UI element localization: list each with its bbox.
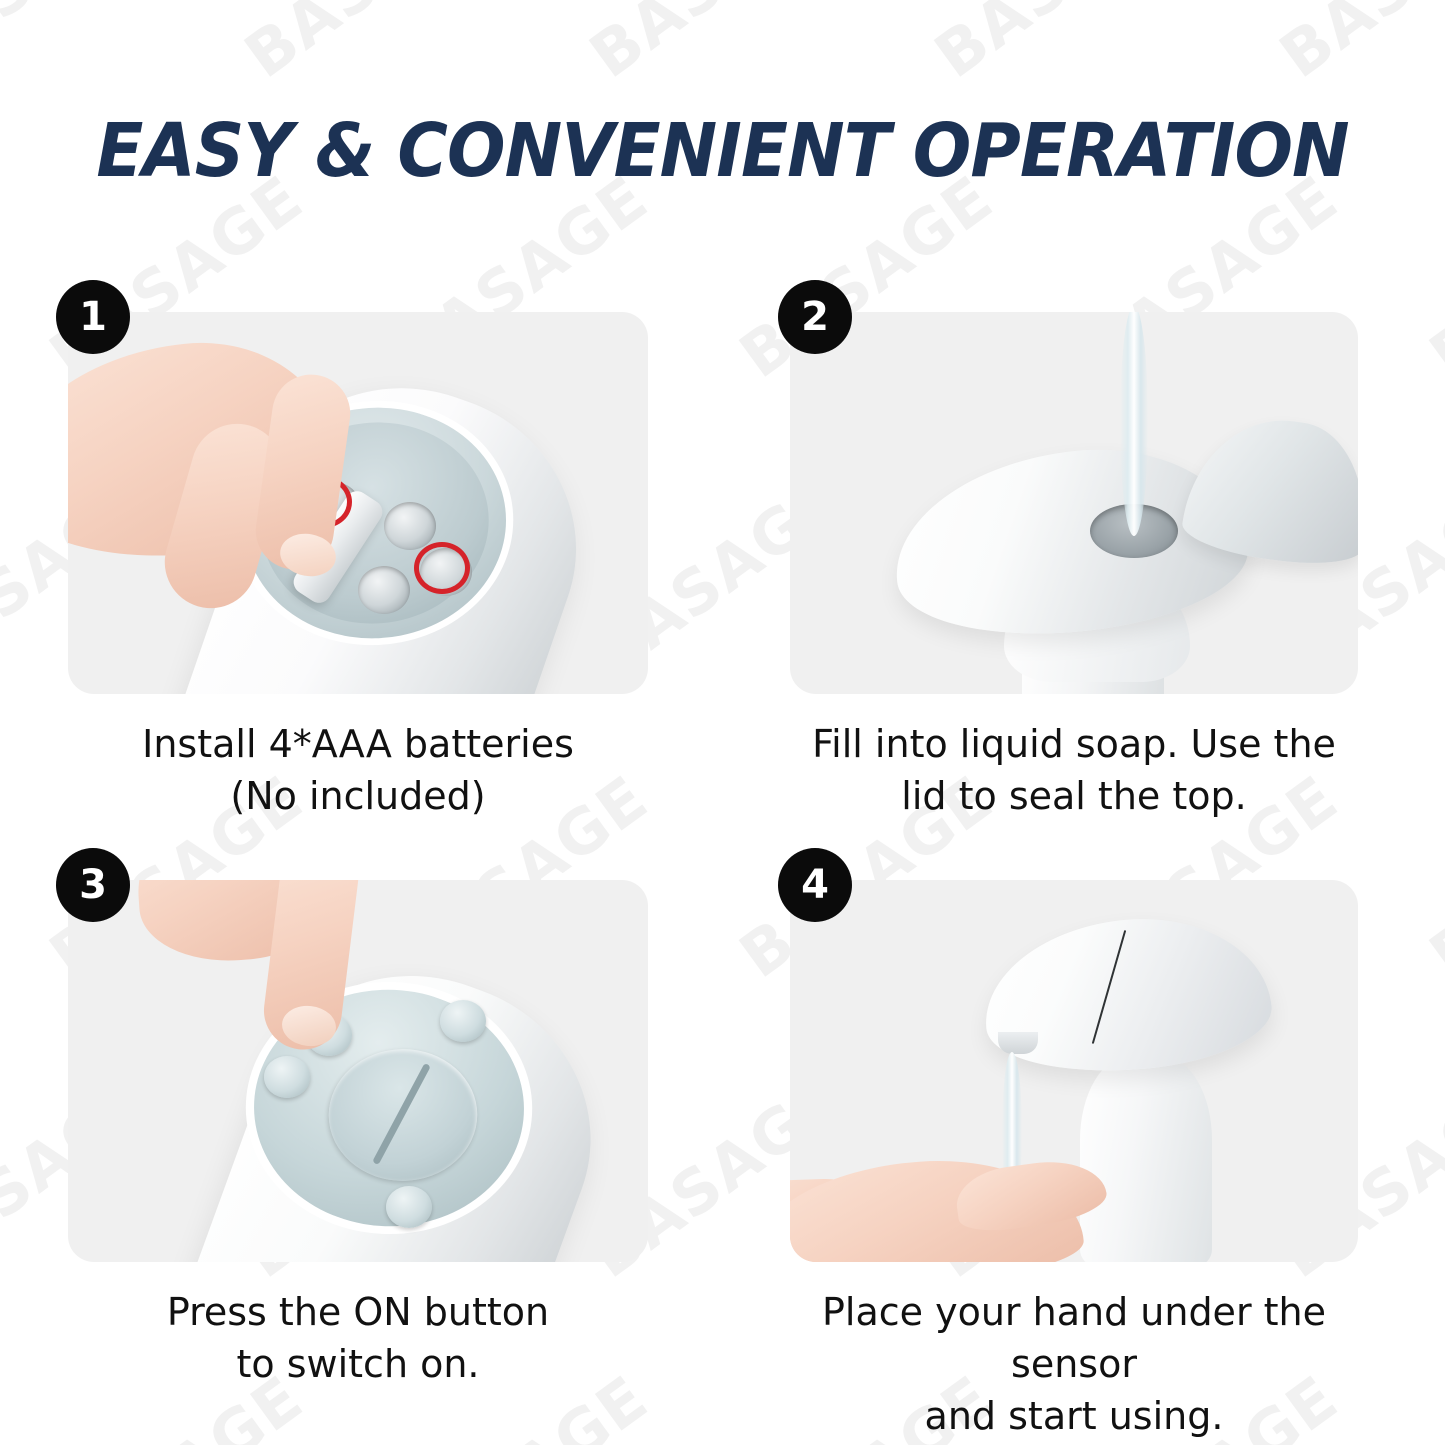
scene-fill-soap: [790, 312, 1358, 694]
step-card-1: 1 Install 4*AAA batteries (No included): [68, 312, 648, 694]
step-number-badge-2: 2: [778, 280, 852, 354]
dispenser-head: [978, 908, 1276, 1082]
step-number-badge-1: 1: [56, 280, 130, 354]
nozzle: [998, 1032, 1038, 1054]
scene-dispensing-soap: [790, 880, 1358, 1262]
step-image-1: [68, 312, 648, 694]
instruction-infographic: EASY & CONVENIENT OPERATION 1 Insta: [0, 0, 1445, 1445]
dispenser-top-cover: [886, 434, 1255, 650]
step-caption-4: Place your hand under the sensor and sta…: [756, 1286, 1392, 1442]
page-title: EASY & CONVENIENT OPERATION: [51, 108, 1395, 194]
scene-press-on-button: [68, 880, 648, 1262]
step-number-badge-3: 3: [56, 848, 130, 922]
step-image-4: [790, 880, 1358, 1262]
step-number-badge-4: 4: [778, 848, 852, 922]
dispenser-body: [1080, 1056, 1212, 1262]
battery-slot-icon: [358, 566, 410, 614]
step-caption-2: Fill into liquid soap. Use the lid to se…: [756, 718, 1392, 822]
scene-battery-install: [68, 312, 648, 694]
step-card-2: 2 Fill into liquid soap. Use the lid to …: [790, 312, 1358, 694]
step-image-2: [790, 312, 1358, 694]
liquid-stream: [1120, 312, 1148, 536]
step-image-3: [68, 880, 648, 1262]
base-button: [264, 1056, 310, 1098]
step-caption-1: Install 4*AAA batteries (No included): [38, 718, 678, 822]
step-card-3: 3 Press the ON button to switch on.: [68, 880, 648, 1262]
base-button: [386, 1186, 432, 1228]
step-card-4: 4 Place your hand under the sensor and s…: [790, 880, 1358, 1262]
base-button: [440, 1000, 486, 1042]
step-caption-3: Press the ON button to switch on.: [38, 1286, 678, 1390]
battery-slot-icon: [384, 502, 436, 550]
highlight-ring-icon: [414, 542, 470, 594]
